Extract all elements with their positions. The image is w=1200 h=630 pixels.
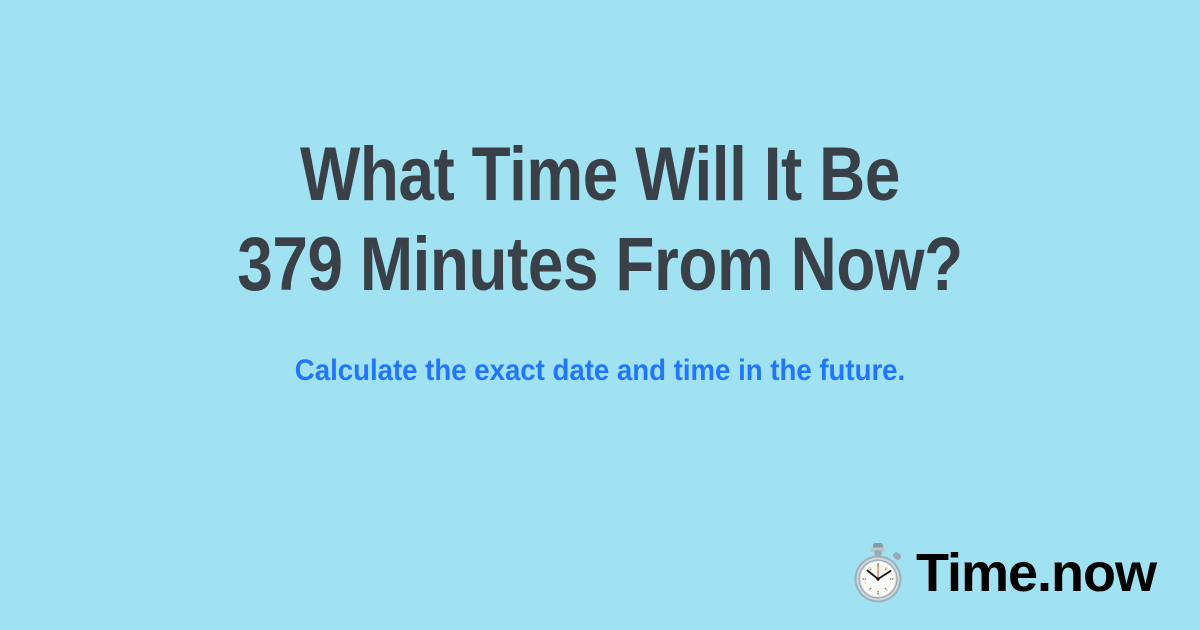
brand-name: Time.now <box>916 546 1156 600</box>
page-title-line-2: 379 Minutes From Now? <box>96 220 1104 310</box>
og-card: What Time Will It Be 379 Minutes From No… <box>0 0 1200 630</box>
brand-logo[interactable]: Time.now <box>850 542 1156 604</box>
hero-section: What Time Will It Be 379 Minutes From No… <box>0 130 1200 389</box>
page-title-line-1: What Time Will It Be <box>96 130 1104 220</box>
page-title: What Time Will It Be 379 Minutes From No… <box>96 130 1104 309</box>
stopwatch-icon <box>850 542 906 604</box>
page-subtitle: Calculate the exact date and time in the… <box>48 353 1152 389</box>
